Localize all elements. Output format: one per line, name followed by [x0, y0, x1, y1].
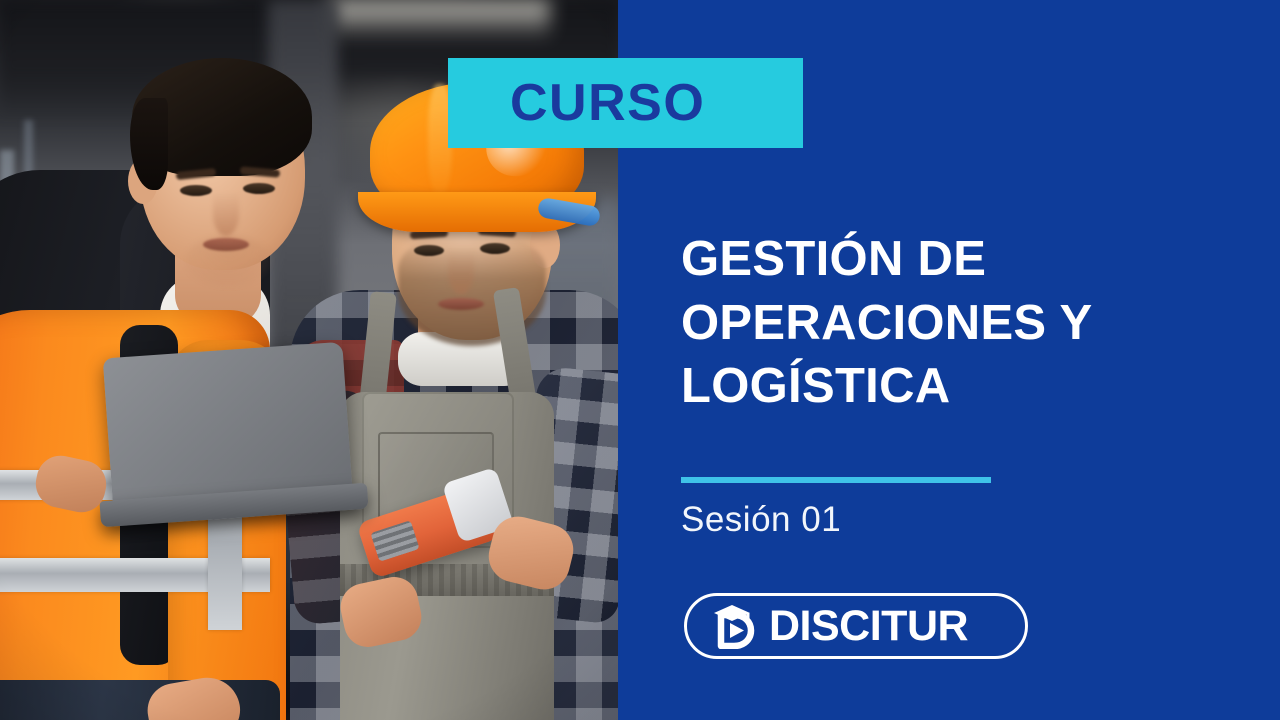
- graduation-cap-play-d-icon: [709, 603, 759, 649]
- title-line-2: OPERACIONES Y: [681, 296, 1092, 350]
- session-label: Sesión 01: [681, 500, 841, 540]
- worker-mouth: [438, 298, 484, 310]
- title-divider: [681, 477, 991, 483]
- curso-badge-label: CURSO: [510, 77, 705, 129]
- course-slide: CURSO GESTIÓN DE OPERACIONES Y LOGÍSTICA…: [0, 0, 1280, 720]
- worker-chin: [185, 236, 271, 286]
- worker-eye: [243, 183, 275, 194]
- worker-eye: [180, 185, 212, 196]
- curso-badge: CURSO: [448, 58, 803, 148]
- worker-nose: [213, 192, 239, 236]
- page-title: GESTIÓN DE OPERACIONES Y LOGÍSTICA: [681, 228, 1221, 419]
- photo-background-light-beam: [330, 0, 550, 38]
- worker-eye: [414, 245, 444, 256]
- discitur-wordmark: DISCITUR: [769, 605, 968, 648]
- worker-safety-vest: [0, 40, 330, 720]
- worker-nose: [448, 250, 474, 294]
- title-line-1: GESTIÓN DE: [681, 232, 986, 286]
- discitur-logo[interactable]: DISCITUR: [684, 593, 1028, 659]
- worker-eye: [480, 243, 510, 254]
- title-line-3: LOGÍSTICA: [681, 359, 950, 413]
